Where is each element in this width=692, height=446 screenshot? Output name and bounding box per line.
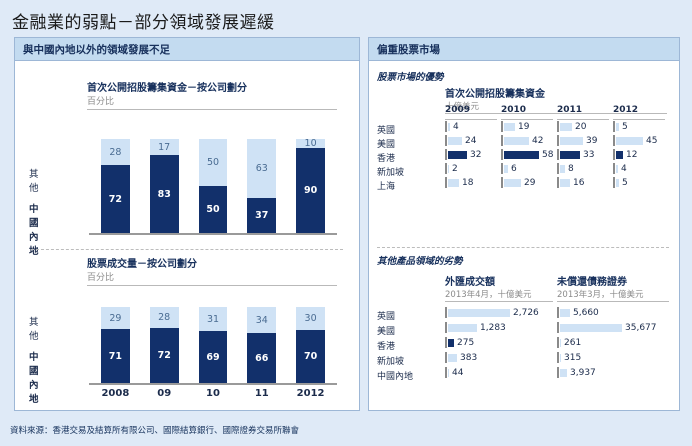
bar-segment-other: 30 — [296, 307, 325, 330]
mini-axis — [557, 135, 559, 146]
mini-bar-value: 39 — [586, 136, 597, 146]
chart1-legend-other: 其他 — [29, 166, 39, 194]
mini-bar — [560, 309, 570, 317]
x-axis-tick: 2012 — [286, 388, 335, 399]
mini-bar — [448, 137, 462, 145]
other-products-bar-cell: 3,937 — [557, 367, 596, 378]
bar-segment-mainland: 69 — [199, 331, 228, 383]
other-products-row-label: 新加坡 — [377, 354, 404, 367]
bar-column: 3466 — [247, 307, 276, 383]
bar-column: 6337 — [247, 139, 276, 233]
mini-bar — [560, 339, 561, 347]
mini-bar — [448, 165, 449, 173]
bar-segment-other: 29 — [101, 307, 130, 329]
ipo-column-header: 2011 — [557, 105, 582, 115]
mini-bar — [504, 137, 529, 145]
right-panel-body: 股票市場的優勢 首次公開招股籌集資金 十億美元 2009201020112012… — [369, 61, 679, 433]
ipo-row-label: 新加坡 — [377, 165, 404, 178]
bar-column: 2872 — [150, 307, 179, 383]
mini-axis — [557, 367, 559, 378]
fx-turnover-title: 外匯成交額 — [445, 273, 553, 288]
mini-bar — [616, 123, 619, 131]
bar-segment-mainland: 83 — [150, 155, 179, 233]
column-rule — [557, 119, 609, 120]
mini-bar-value: 33 — [583, 150, 594, 160]
other-products-row-label: 英國 — [377, 309, 395, 322]
bar-column: 5050 — [199, 139, 228, 233]
ipo-bar-cell: 33 — [557, 149, 594, 160]
mini-axis — [613, 135, 615, 146]
ipo-row-label: 香港 — [377, 151, 395, 164]
mini-axis — [445, 352, 447, 363]
mini-bar — [560, 324, 622, 332]
mini-bar-value: 58 — [542, 150, 553, 160]
mini-bar — [560, 354, 561, 362]
mini-bar — [616, 137, 643, 145]
mini-axis — [557, 337, 559, 348]
mini-bar-value: 5 — [622, 122, 628, 132]
bar-column: 1090 — [296, 139, 325, 233]
ipo-proceeds-title: 首次公開招股籌集資金 — [445, 85, 667, 100]
mini-axis — [557, 149, 559, 160]
other-products-row-label: 中國內地 — [377, 369, 413, 382]
column-rule — [501, 119, 553, 120]
mini-bar — [616, 165, 618, 173]
bar-segment-mainland: 71 — [101, 329, 130, 383]
bar-segment-other: 34 — [247, 307, 276, 333]
chart2-legend-mainland: 中國內地 — [29, 349, 39, 405]
ipo-bar-cell: 19 — [501, 121, 529, 132]
mini-bar-value: 1,283 — [480, 323, 506, 333]
mini-bar — [560, 123, 572, 131]
ipo-bar-cell: 42 — [501, 135, 543, 146]
chart2-legend-other: 其他 — [29, 314, 39, 342]
mini-bar-value: 18 — [462, 178, 473, 188]
mini-axis — [445, 367, 447, 378]
mini-bar — [448, 369, 449, 377]
mini-axis — [557, 307, 559, 318]
bar-segment-mainland: 50 — [199, 186, 228, 233]
mini-bar-value: 44 — [452, 368, 463, 378]
other-products-bar-cell: 2,726 — [445, 307, 539, 318]
mini-bar-value: 6 — [511, 164, 517, 174]
mini-axis — [445, 307, 447, 318]
other-products-bar-cell: 1,283 — [445, 322, 506, 333]
mini-axis — [501, 121, 503, 132]
bar-column: 3169 — [199, 307, 228, 383]
x-axis-tick: 2008 — [91, 388, 140, 399]
mini-bar-value: 35,677 — [625, 323, 657, 333]
ipo-bar-cell: 58 — [501, 149, 553, 160]
mini-axis — [501, 149, 503, 160]
mini-bar-value: 275 — [457, 338, 474, 348]
mini-bar — [448, 151, 467, 159]
ipo-bar-cell: 16 — [557, 177, 584, 188]
bar-segment-other: 28 — [150, 307, 179, 328]
mini-bar — [448, 339, 454, 347]
mini-axis — [501, 177, 503, 188]
page-title: 金融業的弱點－部分領域發展遲緩 — [12, 8, 275, 33]
mini-bar-value: 2,726 — [513, 308, 539, 318]
ipo-bar-cell: 24 — [445, 135, 476, 146]
ipo-column-header: 2009 — [445, 105, 470, 115]
ipo-bar-cell: 5 — [613, 177, 628, 188]
ipo-bar-cell: 45 — [613, 135, 657, 146]
ipo-bar-cell: 12 — [613, 149, 637, 160]
mini-bar — [448, 324, 477, 332]
bar-segment-mainland: 72 — [101, 165, 130, 233]
mini-bar-value: 16 — [573, 178, 584, 188]
ipo-row-label: 上海 — [377, 179, 395, 192]
mini-axis — [445, 121, 447, 132]
mini-bar — [616, 179, 619, 187]
debt-securities-subtitle: 2013年3月，十億美元 — [557, 288, 669, 302]
chart1-subtitle: 百分比 — [87, 94, 337, 110]
mini-bar-value: 32 — [470, 150, 481, 160]
other-products-bar-cell: 5,660 — [557, 307, 599, 318]
bar-segment-mainland: 37 — [247, 198, 276, 233]
mini-bar-value: 24 — [465, 136, 476, 146]
mini-bar-value: 12 — [626, 150, 637, 160]
mini-axis — [445, 322, 447, 333]
mini-bar-value: 4 — [453, 122, 459, 132]
mini-axis — [501, 163, 503, 174]
mini-axis — [557, 352, 559, 363]
mini-bar — [448, 179, 459, 187]
mini-bar-value: 5 — [622, 178, 628, 188]
fx-turnover-subtitle: 2013年4月，十億美元 — [445, 288, 553, 302]
ipo-bar-cell: 6 — [501, 163, 517, 174]
bar-segment-other: 63 — [247, 139, 276, 198]
other-products-row-label: 美國 — [377, 324, 395, 337]
ipo-bar-cell: 18 — [445, 177, 473, 188]
mini-bar-value: 5,660 — [573, 308, 599, 318]
bar-segment-other: 10 — [296, 139, 325, 148]
mini-bar-value: 3,937 — [570, 368, 596, 378]
mini-axis — [445, 163, 447, 174]
column-rule — [613, 119, 665, 120]
mini-axis — [613, 163, 615, 174]
chart2-subtitle: 百分比 — [87, 270, 337, 286]
other-products-row-label: 香港 — [377, 339, 395, 352]
right-section2-label: 其他產品領域的劣勢 — [377, 253, 463, 267]
mini-bar — [504, 123, 515, 131]
bar-segment-mainland: 66 — [247, 333, 276, 383]
mini-axis — [613, 121, 615, 132]
ipo-bar-cell: 8 — [557, 163, 574, 174]
mini-axis — [445, 177, 447, 188]
right-panel: 偏重股票市場 股票市場的優勢 首次公開招股籌集資金 十億美元 200920102… — [368, 37, 680, 411]
other-products-bar-cell: 35,677 — [557, 322, 657, 333]
mini-axis — [501, 135, 503, 146]
mini-axis — [557, 163, 559, 174]
mini-bar — [448, 123, 450, 131]
column-rule — [445, 119, 497, 120]
x-axis-tick: 11 — [237, 388, 286, 399]
mini-bar — [560, 165, 565, 173]
mini-bar-value: 383 — [460, 353, 477, 363]
mini-bar-value: 4 — [621, 164, 627, 174]
ipo-bar-cell: 20 — [557, 121, 586, 132]
mini-axis — [557, 121, 559, 132]
mini-bar-value: 42 — [532, 136, 543, 146]
ipo-bar-cell: 39 — [557, 135, 597, 146]
ipo-bar-cell: 29 — [501, 177, 535, 188]
ipo-bar-cell: 4 — [445, 121, 459, 132]
bar-column: 2971 — [101, 307, 130, 383]
chart2-title: 股票成交量－按公司劃分 — [87, 255, 337, 270]
bar-column: 1783 — [150, 139, 179, 233]
ipo-column-header: 2012 — [613, 105, 638, 115]
bar-column: 3070 — [296, 307, 325, 383]
mini-axis — [445, 149, 447, 160]
bar-segment-other: 31 — [199, 307, 228, 331]
x-axis-tick: 10 — [189, 388, 238, 399]
right-panel-header: 偏重股票市場 — [369, 38, 679, 61]
other-products-bar-cell: 261 — [557, 337, 581, 348]
mini-bar — [616, 151, 623, 159]
ipo-bar-cell: 4 — [613, 163, 627, 174]
mini-bar — [504, 151, 539, 159]
chart1-title: 首次公開招股籌集資金－按公司劃分 — [87, 79, 337, 94]
ipo-row-label: 美國 — [377, 137, 395, 150]
left-panel-body: 首次公開招股籌集資金－按公司劃分 百分比 其他 中國內地 28721783505… — [15, 61, 359, 433]
mini-bar-value: 29 — [524, 178, 535, 188]
mini-bar-value: 2 — [452, 164, 458, 174]
other-products-bar-cell: 44 — [445, 367, 463, 378]
mini-axis — [445, 337, 447, 348]
mini-bar-value: 45 — [646, 136, 657, 146]
bar-segment-other: 17 — [150, 139, 179, 155]
ipo-bar-cell: 5 — [613, 121, 628, 132]
mini-bar — [560, 179, 570, 187]
mini-bar — [560, 369, 567, 377]
mini-axis — [613, 177, 615, 188]
mini-axis — [445, 135, 447, 146]
mini-bar-value: 20 — [575, 122, 586, 132]
right-section1-label: 股票市場的優勢 — [377, 69, 444, 83]
left-panel-header: 與中國內地以外的領域發展不足 — [15, 38, 359, 61]
mini-bar — [448, 309, 510, 317]
bar-segment-mainland: 72 — [150, 328, 179, 383]
ipo-bar-cell: 2 — [445, 163, 458, 174]
mini-axis — [557, 177, 559, 188]
debt-securities-title: 未償還債務證券 — [557, 273, 669, 288]
mini-bar-value: 315 — [564, 353, 581, 363]
mini-bar-value: 8 — [568, 164, 574, 174]
mini-bar — [448, 354, 457, 362]
mini-bar — [504, 179, 521, 187]
ipo-row-label: 英國 — [377, 123, 395, 136]
other-products-bar-cell: 383 — [445, 352, 477, 363]
other-products-bar-cell: 315 — [557, 352, 581, 363]
mini-bar-value: 261 — [564, 338, 581, 348]
ipo-bar-cell: 32 — [445, 149, 481, 160]
bar-column: 2872 — [101, 139, 130, 233]
bar-segment-mainland: 70 — [296, 330, 325, 383]
mini-axis — [613, 149, 615, 160]
x-axis-tick: 09 — [140, 388, 189, 399]
mini-bar-value: 19 — [518, 122, 529, 132]
mini-axis — [557, 322, 559, 333]
bar-segment-other: 28 — [101, 139, 130, 165]
mini-bar — [504, 165, 508, 173]
mini-bar — [560, 137, 583, 145]
bar-segment-other: 50 — [199, 139, 228, 186]
other-products-bar-cell: 275 — [445, 337, 474, 348]
source-footnote: 資料來源：香港交易及結算所有限公司、國際結算銀行、國際證券交易所聯會 — [10, 424, 299, 436]
bar-segment-mainland: 90 — [296, 148, 325, 233]
mini-bar — [560, 151, 580, 159]
left-panel: 與中國內地以外的領域發展不足 首次公開招股籌集資金－按公司劃分 百分比 其他 中… — [14, 37, 360, 411]
ipo-column-header: 2010 — [501, 105, 526, 115]
